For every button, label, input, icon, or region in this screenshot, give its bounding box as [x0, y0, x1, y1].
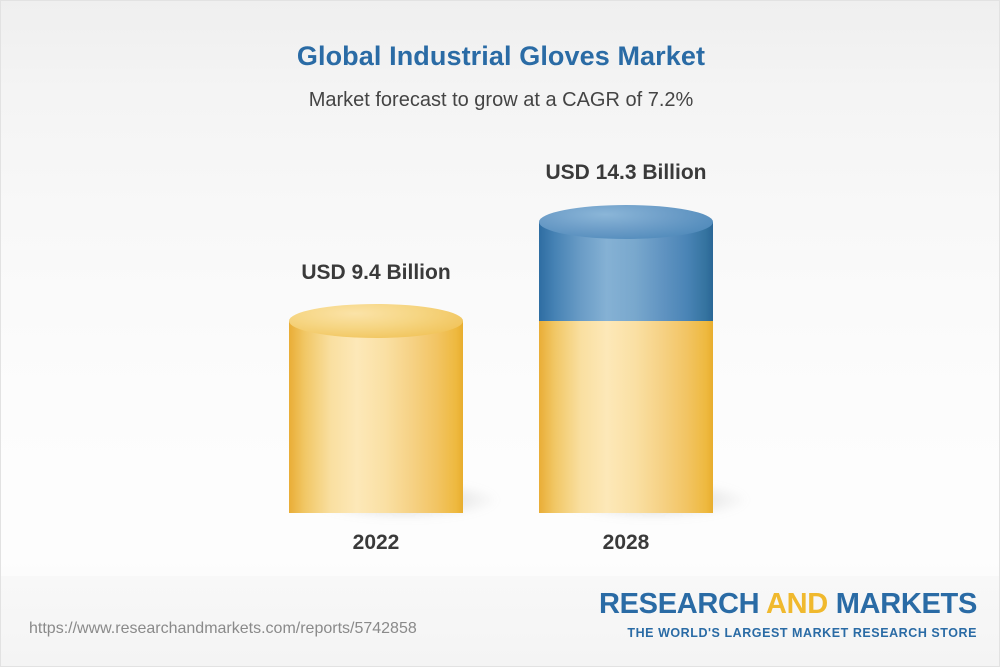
cylinder-top-cap-2022 — [289, 304, 463, 338]
brand-tagline: THE WORLD'S LARGEST MARKET RESEARCH STOR… — [599, 627, 977, 640]
brand-name: RESEARCH AND MARKETS — [599, 590, 977, 619]
cylinder-top-cap-2028 — [539, 205, 713, 239]
infographic-card: Global Industrial Gloves Market Market f… — [0, 0, 1000, 667]
bar-category-label-2022: 2022 — [256, 531, 496, 555]
brand-word-markets: MARKETS — [836, 588, 977, 620]
bar-value-label-2028: USD 14.3 Billion — [506, 161, 746, 185]
bar-category-label-2028: 2028 — [506, 531, 746, 555]
footer: https://www.researchandmarkets.com/repor… — [1, 576, 1000, 667]
cylinder-segment-base-2022 — [289, 321, 463, 513]
cylinder-body-2028 — [539, 205, 713, 513]
source-url-link[interactable]: https://www.researchandmarkets.com/repor… — [29, 620, 417, 638]
bar-value-label-2022: USD 9.4 Billion — [256, 261, 496, 285]
brand-word-research: RESEARCH — [599, 588, 759, 620]
chart-plot-area: USD 9.4 Billion 2022 USD 14.3 Billion — [1, 1, 1000, 576]
cylinder-bar-2028 — [539, 205, 713, 513]
cylinder-bar-2022 — [289, 304, 463, 513]
brand-logo: RESEARCH AND MARKETS THE WORLD'S LARGEST… — [599, 590, 977, 640]
brand-word-and: AND — [766, 588, 828, 620]
cylinder-segment-base-2028 — [539, 321, 713, 513]
